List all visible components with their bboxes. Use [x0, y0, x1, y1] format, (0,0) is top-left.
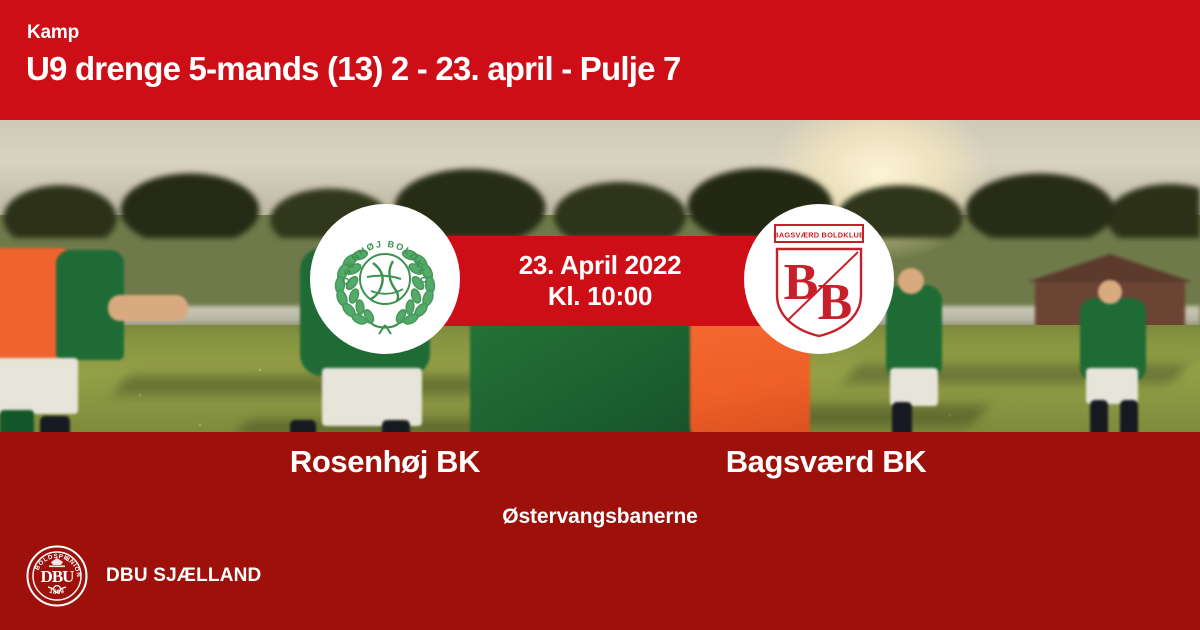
home-team-name: Rosenhøj BK	[195, 444, 575, 480]
player-shorts	[0, 358, 78, 414]
away-team-name: Bagsværd BK	[636, 444, 1016, 480]
player-arm	[108, 295, 188, 321]
match-time: Kl. 10:00	[548, 282, 652, 311]
dbu-logo-icon: BOLDSPIL UNION 1889 DBU	[26, 545, 88, 607]
match-poster: Kamp U9 drenge 5-mands (13) 2 - 23. apri…	[0, 0, 1200, 630]
player-shorts	[322, 368, 422, 426]
player-leg	[382, 420, 410, 432]
footer-branding: BOLDSPIL UNION 1889 DBU DBU SJÆLLAND	[26, 545, 261, 607]
player-leg	[40, 416, 70, 432]
player-shorts	[890, 368, 938, 406]
player-head	[1098, 280, 1122, 304]
treeline-layer	[0, 148, 1200, 238]
player-head	[898, 268, 924, 294]
away-team-logo: BAGSVÆRD BOLDKLUB B B	[744, 204, 894, 354]
rosenhoej-boldklub-crest-icon: ROSENHØJ BOLDKLUB	[323, 217, 447, 341]
away-logo-banner-text: BAGSVÆRD BOLDKLUB	[773, 231, 864, 240]
player-leg	[1120, 400, 1138, 432]
dbu-logo-monogram: DBU	[41, 567, 75, 586]
header-eyebrow-label: Kamp	[27, 22, 79, 44]
player-leg	[892, 402, 912, 432]
player-shorts	[1086, 368, 1138, 404]
away-logo-initial-1: B	[784, 254, 819, 311]
player-leg	[290, 420, 316, 432]
bagsvaerd-boldklub-crest-icon: BAGSVÆRD BOLDKLUB B B	[759, 217, 879, 341]
away-logo-initial-2: B	[818, 274, 853, 331]
field-shadow	[113, 375, 486, 395]
match-date: 23. April 2022	[519, 251, 682, 280]
home-team-logo: ROSENHØJ BOLDKLUB	[310, 204, 460, 354]
page-title: U9 drenge 5-mands (13) 2 - 23. april - P…	[26, 50, 681, 88]
poster-header: Kamp U9 drenge 5-mands (13) 2 - 23. apri…	[0, 0, 1200, 120]
match-venue: Østervangsbanerne	[0, 505, 1200, 529]
organisation-label: DBU SJÆLLAND	[106, 565, 261, 587]
player-sock	[0, 410, 34, 432]
player-figure	[886, 285, 942, 381]
player-leg	[1090, 400, 1108, 432]
